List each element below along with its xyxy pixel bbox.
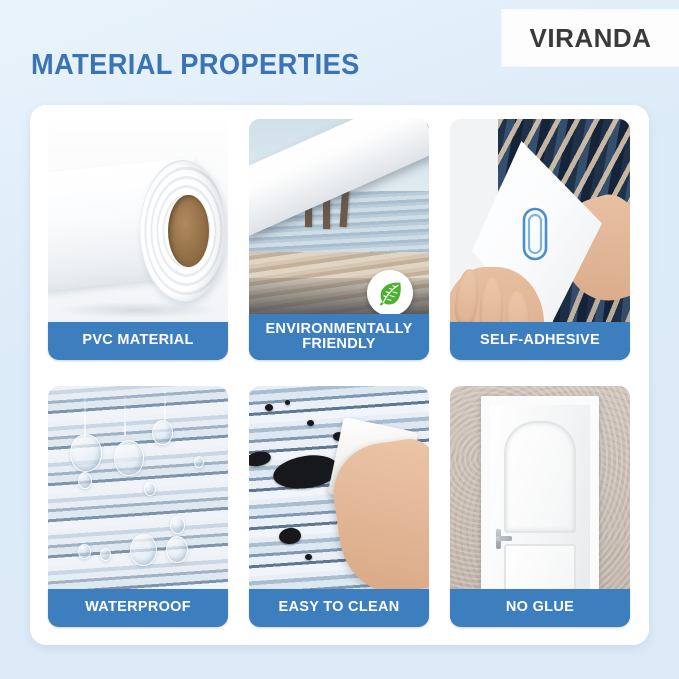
card-label-self-adhesive: SELF-ADHESIVE: [450, 322, 630, 360]
brand-badge: VIRANDA: [502, 10, 679, 66]
leaf-badge-icon: [367, 270, 413, 316]
page-title: MATERIAL PROPERTIES: [31, 49, 360, 82]
card-label-easy-to-clean: EASY TO CLEAN: [249, 589, 429, 627]
card-label-pvc-material: PVC MATERIAL: [48, 322, 228, 360]
brand-name: VIRANDA: [530, 23, 652, 54]
feature-grid: PVC MATERIAL E: [48, 119, 631, 627]
card-label-line2: FRIENDLY: [265, 337, 412, 352]
feature-card-easy-to-clean[interactable]: EASY TO CLEAN: [249, 386, 429, 627]
card-label-no-glue: NO GLUE: [450, 589, 630, 627]
paperclip-icon: [522, 207, 548, 261]
feature-card-no-glue[interactable]: NO GLUE: [450, 386, 630, 627]
card-label-environmentally-friendly: ENVIRONMENTALLY FRIENDLY: [249, 314, 429, 360]
feature-card-self-adhesive[interactable]: SELF-ADHESIVE: [450, 119, 630, 360]
card-label-line1: ENVIRONMENTALLY: [265, 322, 412, 337]
feature-card-waterproof[interactable]: WATERPROOF: [48, 386, 228, 627]
feature-card-environmentally-friendly[interactable]: ENVIRONMENTALLY FRIENDLY: [249, 119, 429, 360]
feature-card-pvc-material[interactable]: PVC MATERIAL: [48, 119, 228, 360]
card-label-waterproof: WATERPROOF: [48, 589, 228, 627]
